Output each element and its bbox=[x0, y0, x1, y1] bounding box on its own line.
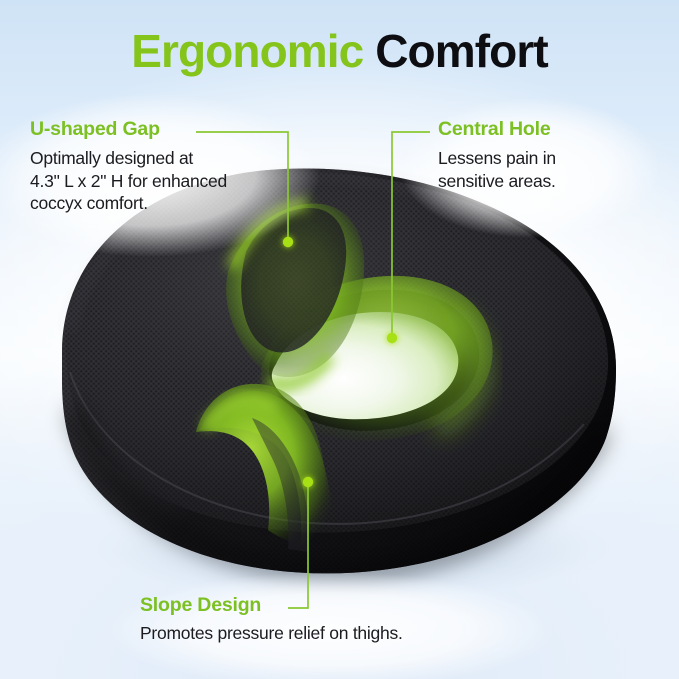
donut-cushion-illustration bbox=[0, 0, 679, 679]
callout-u-shaped-gap: U-shaped Gap Optimally designed at 4.3" … bbox=[30, 119, 227, 215]
callout-body-central-hole: Lessens pain in sensitive areas. bbox=[438, 147, 556, 192]
infographic-canvas: Ergonomic Comfort bbox=[0, 0, 679, 679]
callout-heading-central-hole: Central Hole bbox=[438, 119, 556, 140]
callout-heading-slope-design: Slope Design bbox=[140, 595, 403, 616]
callout-body-slope-design: Promotes pressure relief on thighs. bbox=[140, 622, 403, 644]
callout-central-hole: Central Hole Lessens pain in sensitive a… bbox=[438, 119, 556, 192]
callout-heading-u-shaped-gap: U-shaped Gap bbox=[30, 119, 227, 140]
callout-body-u-shaped-gap: Optimally designed at 4.3" L x 2" H for … bbox=[30, 147, 227, 214]
callout-slope-design: Slope Design Promotes pressure relief on… bbox=[140, 595, 403, 645]
product-image-stage bbox=[0, 0, 679, 679]
